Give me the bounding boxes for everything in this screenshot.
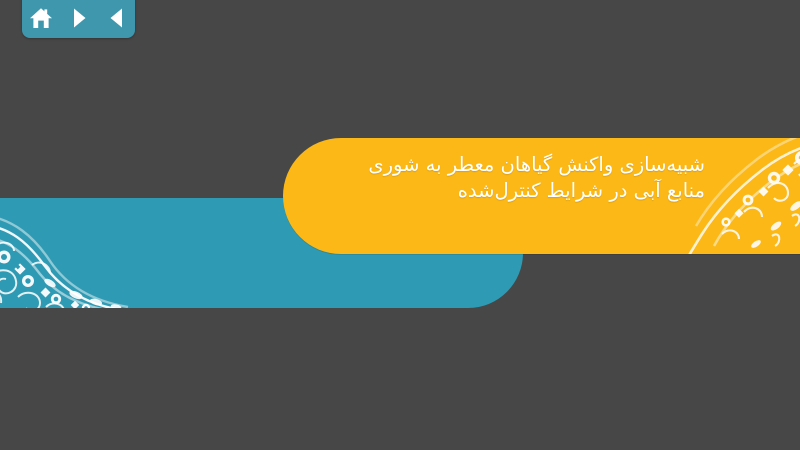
slide-canvas: شبیه‌سازی واکنش گیاهان معطر به شوری مناب…	[0, 0, 800, 450]
triangle-right-icon	[69, 7, 89, 29]
title-line-1: شبیه‌سازی واکنش گیاهان معطر به شوری	[305, 152, 705, 178]
title-line-2: منابع آبی در شرایط کنترل‌شده	[305, 178, 705, 204]
presentation-title: شبیه‌سازی واکنش گیاهان معطر به شوری مناب…	[305, 152, 705, 203]
next-button[interactable]	[66, 5, 92, 31]
navigation-bar	[22, 0, 135, 38]
triangle-left-icon	[106, 7, 126, 29]
home-button[interactable]	[28, 5, 54, 31]
home-icon	[29, 7, 53, 30]
previous-button[interactable]	[103, 5, 129, 31]
teal-arabesque-ornament-icon	[0, 198, 150, 308]
title-banner: شبیه‌سازی واکنش گیاهان معطر به شوری مناب…	[283, 138, 800, 254]
